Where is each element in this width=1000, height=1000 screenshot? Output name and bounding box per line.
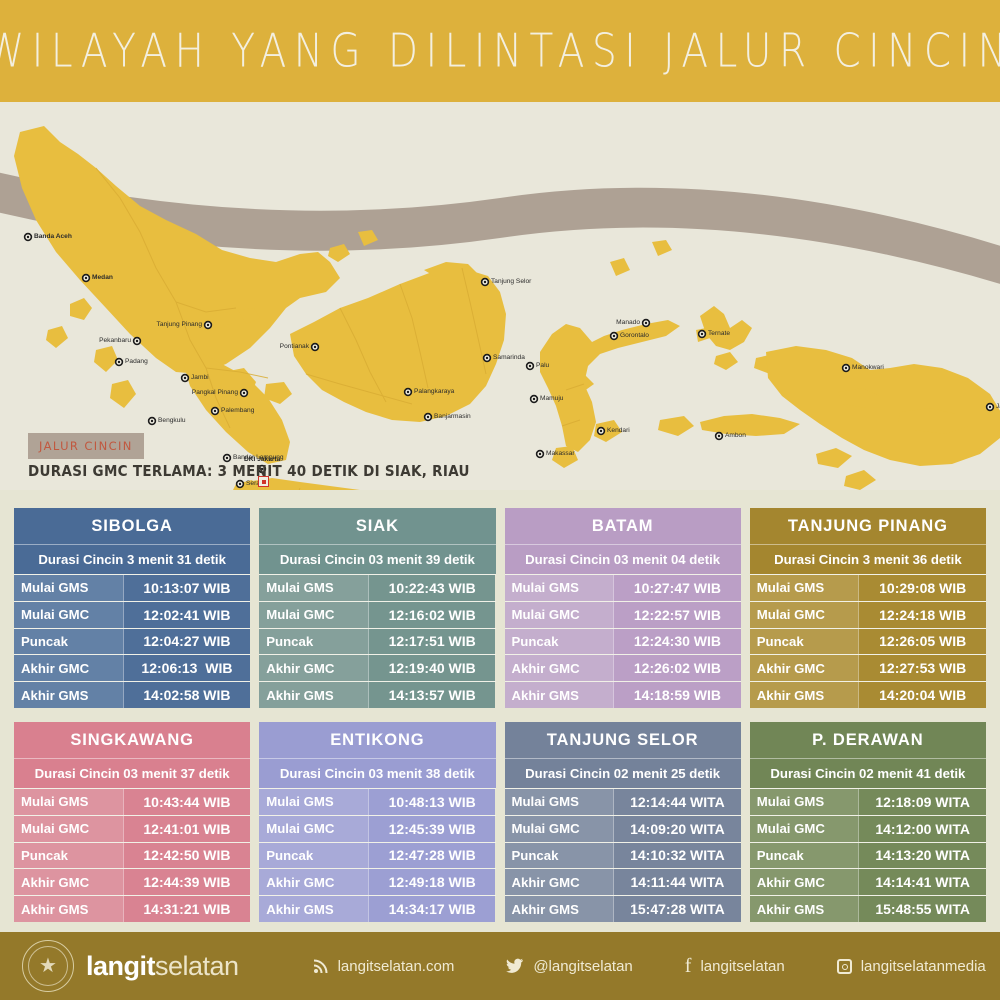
row-value: 12:06:13 WIB bbox=[123, 655, 251, 681]
card-duration: Durasi Cincin 03 menit 04 detik bbox=[505, 544, 741, 574]
row-label: Mulai GMS bbox=[505, 789, 614, 815]
city-label: Bengkulu bbox=[158, 418, 186, 425]
table-row: Mulai GMC12:45:39 WIB bbox=[259, 815, 495, 842]
row-label: Akhir GMC bbox=[750, 655, 859, 681]
infographic-page: WILAYAH YANG DILINTASI JALUR CINCIN bbox=[0, 0, 1000, 1000]
row-value: 10:22:43 WIB bbox=[368, 575, 496, 601]
social-links: langitselatan.com@langitselatanflangitse… bbox=[313, 955, 986, 978]
city-timing-card: TANJUNG PINANGDurasi Cincin 3 menit 36 d… bbox=[750, 508, 986, 708]
city-label: Jayapura bbox=[996, 404, 1000, 411]
city-label: Tanjung Selor bbox=[491, 279, 531, 286]
table-row: Puncak12:47:28 WIB bbox=[259, 842, 495, 869]
row-label: Mulai GMC bbox=[750, 816, 859, 842]
city-label: Ambon bbox=[725, 433, 746, 440]
city-label: Kendari bbox=[607, 428, 630, 435]
city-label: Palangkaraya bbox=[414, 389, 454, 396]
city-timing-card: SIAKDurasi Cincin 03 menit 39 detikMulai… bbox=[259, 508, 495, 708]
social-link-rss[interactable]: langitselatan.com bbox=[313, 958, 455, 975]
table-row: Mulai GMC12:16:02 WIB bbox=[259, 601, 495, 628]
city-label: Ternate bbox=[708, 331, 730, 338]
row-value: 12:26:05 WIB bbox=[858, 629, 986, 655]
social-link-facebook[interactable]: flangitselatan bbox=[685, 955, 785, 978]
table-row: Mulai GMS10:29:08 WIB bbox=[750, 574, 986, 601]
page-footer: ★ langitselatan langitselatan.com@langit… bbox=[0, 932, 1000, 1000]
city-label: Pangkal Pinang bbox=[192, 390, 238, 397]
card-title: SIBOLGA bbox=[14, 508, 250, 544]
card-title: SIAK bbox=[259, 508, 495, 544]
table-row: Akhir GMC12:26:02 WIB bbox=[505, 654, 741, 681]
row-label: Mulai GMC bbox=[505, 602, 614, 628]
city-timing-card: SIBOLGADurasi Cincin 3 menit 31 detikMul… bbox=[14, 508, 250, 708]
card-duration: Durasi Cincin 02 menit 25 detik bbox=[505, 758, 741, 788]
row-value: 12:22:57 WIB bbox=[613, 602, 741, 628]
card-title: P. DERAWAN bbox=[750, 722, 986, 758]
row-value: 14:09:20 WITA bbox=[613, 816, 741, 842]
table-row: Mulai GMS10:48:13 WIB bbox=[259, 788, 495, 815]
row-value: 14:20:04 WIB bbox=[858, 682, 986, 708]
row-value: 10:48:13 WIB bbox=[368, 789, 496, 815]
row-label: Mulai GMS bbox=[505, 575, 614, 601]
row-label: Akhir GMS bbox=[505, 896, 614, 922]
row-value: 12:16:02 WIB bbox=[368, 602, 496, 628]
page-title: WILAYAH YANG DILINTASI JALUR CINCIN bbox=[0, 24, 1000, 77]
card-title: ENTIKONG bbox=[259, 722, 495, 758]
table-row: Mulai GMC14:12:00 WITA bbox=[750, 815, 986, 842]
row-value: 12:17:51 WIB bbox=[368, 629, 496, 655]
city-label: Mamuju bbox=[540, 396, 563, 403]
row-value: 14:31:21 WIB bbox=[123, 896, 251, 922]
city-label: Tanjung Pinang bbox=[157, 322, 202, 329]
row-label: Mulai GMS bbox=[750, 789, 859, 815]
row-label: Akhir GMS bbox=[14, 896, 123, 922]
row-label: Puncak bbox=[14, 843, 123, 869]
row-value: 12:47:28 WIB bbox=[368, 843, 496, 869]
social-link-twitter[interactable]: @langitselatan bbox=[506, 958, 632, 975]
city-label: Samarinda bbox=[493, 355, 525, 362]
table-row: Puncak12:17:51 WIB bbox=[259, 628, 495, 655]
city-timing-card: ENTIKONGDurasi Cincin 03 menit 38 detikM… bbox=[259, 722, 495, 922]
row-value: 12:42:50 WIB bbox=[123, 843, 251, 869]
row-value: 12:45:39 WIB bbox=[368, 816, 496, 842]
row-label: Akhir GMS bbox=[14, 682, 123, 708]
city-label: Pekanbaru bbox=[99, 338, 131, 345]
row-label: Puncak bbox=[259, 629, 368, 655]
row-label: Puncak bbox=[14, 629, 123, 655]
city-label: Banda Aceh bbox=[34, 234, 72, 241]
table-row: Mulai GMS10:43:44 WIB bbox=[14, 788, 250, 815]
card-title: SINGKAWANG bbox=[14, 722, 250, 758]
row-label: Puncak bbox=[750, 843, 859, 869]
instagram-icon bbox=[837, 959, 852, 974]
row-label: Mulai GMS bbox=[750, 575, 859, 601]
row-label: Mulai GMS bbox=[259, 789, 368, 815]
card-title: TANJUNG PINANG bbox=[750, 508, 986, 544]
row-value: 14:12:00 WITA bbox=[858, 816, 986, 842]
row-value: 14:34:17 WIB bbox=[368, 896, 496, 922]
row-label: Mulai GMC bbox=[14, 602, 123, 628]
city-timing-grid: SIBOLGADurasi Cincin 3 menit 31 detikMul… bbox=[14, 508, 986, 922]
row-value: 12:49:18 WIB bbox=[368, 869, 496, 895]
row-label: Akhir GMS bbox=[750, 682, 859, 708]
brand-word-light: selatan bbox=[155, 951, 239, 981]
row-value: 15:48:55 WITA bbox=[858, 896, 986, 922]
table-row: Mulai GMS12:14:44 WITA bbox=[505, 788, 741, 815]
city-label: Manokwari bbox=[852, 365, 884, 372]
row-label: Puncak bbox=[505, 843, 614, 869]
card-duration: Durasi Cincin 03 menit 37 detik bbox=[14, 758, 250, 788]
card-title: TANJUNG SELOR bbox=[505, 722, 741, 758]
table-row: Mulai GMS10:22:43 WIB bbox=[259, 574, 495, 601]
table-row: Mulai GMC14:09:20 WITA bbox=[505, 815, 741, 842]
table-row: Akhir GMS14:13:57 WIB bbox=[259, 681, 495, 708]
row-label: Akhir GMS bbox=[259, 896, 368, 922]
city-label: Manado bbox=[616, 320, 640, 327]
brand-lockup[interactable]: ★ langitselatan bbox=[22, 940, 239, 992]
table-row: Akhir GMC12:06:13 WIB bbox=[14, 654, 250, 681]
brand-word-bold: langit bbox=[86, 951, 155, 981]
table-row: Akhir GMC12:19:40 WIB bbox=[259, 654, 495, 681]
table-row: Puncak12:04:27 WIB bbox=[14, 628, 250, 655]
row-value: 12:19:40 WIB bbox=[368, 655, 496, 681]
row-value: 12:24:30 WIB bbox=[613, 629, 741, 655]
table-row: Akhir GMS14:31:21 WIB bbox=[14, 895, 250, 922]
table-row: Puncak12:42:50 WIB bbox=[14, 842, 250, 869]
social-label: langitselatan.com bbox=[338, 958, 455, 975]
table-row: Mulai GMC12:24:18 WIB bbox=[750, 601, 986, 628]
row-label: Puncak bbox=[259, 843, 368, 869]
row-label: Mulai GMC bbox=[750, 602, 859, 628]
rss-icon bbox=[313, 958, 329, 974]
legend-chip: JALUR CINCIN bbox=[28, 433, 144, 459]
seal-figure-icon: ★ bbox=[39, 956, 57, 976]
row-label: Akhir GMC bbox=[505, 869, 614, 895]
row-value: 12:44:39 WIB bbox=[123, 869, 251, 895]
city-timing-card: TANJUNG SELORDurasi Cincin 02 menit 25 d… bbox=[505, 722, 741, 922]
row-label: Mulai GMS bbox=[14, 789, 123, 815]
row-label: Mulai GMS bbox=[259, 575, 368, 601]
langitselatan-seal-icon: ★ bbox=[22, 940, 74, 992]
table-row: Akhir GMS15:48:55 WITA bbox=[750, 895, 986, 922]
row-label: Akhir GMC bbox=[14, 869, 123, 895]
row-label: Akhir GMS bbox=[750, 896, 859, 922]
row-value: 12:14:44 WITA bbox=[613, 789, 741, 815]
row-label: Akhir GMC bbox=[14, 655, 123, 681]
city-timing-card: P. DERAWANDurasi Cincin 02 menit 41 deti… bbox=[750, 722, 986, 922]
brand-wordmark: langitselatan bbox=[86, 951, 239, 982]
row-label: Mulai GMC bbox=[505, 816, 614, 842]
row-value: 12:26:02 WIB bbox=[613, 655, 741, 681]
page-header: WILAYAH YANG DILINTASI JALUR CINCIN bbox=[0, 0, 1000, 102]
city-label: Padang bbox=[125, 359, 148, 366]
table-row: Akhir GMS14:20:04 WIB bbox=[750, 681, 986, 708]
table-row: Mulai GMC12:22:57 WIB bbox=[505, 601, 741, 628]
row-value: 14:18:59 WIB bbox=[613, 682, 741, 708]
table-row: Akhir GMC12:44:39 WIB bbox=[14, 868, 250, 895]
table-row: Akhir GMC14:14:41 WITA bbox=[750, 868, 986, 895]
table-row: Puncak12:26:05 WIB bbox=[750, 628, 986, 655]
table-row: Akhir GMC12:49:18 WIB bbox=[259, 868, 495, 895]
row-label: Akhir GMS bbox=[259, 682, 368, 708]
map-caption: DURASI GMC TERLAMA: 3 MENIT 40 DETIK DI … bbox=[28, 463, 470, 481]
row-label: Akhir GMC bbox=[505, 655, 614, 681]
city-label: Makassar bbox=[546, 451, 575, 458]
table-row: Puncak14:10:32 WITA bbox=[505, 842, 741, 869]
card-duration: Durasi Cincin 3 menit 31 detik bbox=[14, 544, 250, 574]
card-title: BATAM bbox=[505, 508, 741, 544]
row-value: 10:27:47 WIB bbox=[613, 575, 741, 601]
city-label-layer: Banda AcehMedanPekanbaruTanjung PinangPa… bbox=[0, 102, 1000, 490]
social-label: langitselatanmedia bbox=[861, 958, 986, 975]
row-label: Akhir GMC bbox=[259, 869, 368, 895]
row-value: 14:10:32 WITA bbox=[613, 843, 741, 869]
row-label: Akhir GMS bbox=[505, 682, 614, 708]
row-value: 14:11:44 WITA bbox=[613, 869, 741, 895]
table-row: Akhir GMS14:02:58 WIB bbox=[14, 681, 250, 708]
table-row: Puncak14:13:20 WITA bbox=[750, 842, 986, 869]
social-label: langitselatan bbox=[700, 958, 784, 975]
row-label: Puncak bbox=[750, 629, 859, 655]
row-label: Puncak bbox=[505, 629, 614, 655]
card-duration: Durasi Cincin 03 menit 39 detik bbox=[259, 544, 495, 574]
city-timing-card: BATAMDurasi Cincin 03 menit 04 detikMula… bbox=[505, 508, 741, 708]
city-label: Palembang bbox=[221, 408, 254, 415]
table-row: Mulai GMS10:27:47 WIB bbox=[505, 574, 741, 601]
card-duration: Durasi Cincin 02 menit 41 detik bbox=[750, 758, 986, 788]
social-link-instagram[interactable]: langitselatanmedia bbox=[837, 958, 986, 975]
row-label: Mulai GMC bbox=[259, 602, 368, 628]
row-value: 10:43:44 WIB bbox=[123, 789, 251, 815]
row-value: 10:13:07 WIB bbox=[123, 575, 251, 601]
row-value: 14:02:58 WIB bbox=[123, 682, 251, 708]
row-label: Mulai GMC bbox=[259, 816, 368, 842]
row-value: 10:29:08 WIB bbox=[858, 575, 986, 601]
table-row: Akhir GMS14:18:59 WIB bbox=[505, 681, 741, 708]
table-row: Akhir GMC14:11:44 WITA bbox=[505, 868, 741, 895]
row-value: 12:02:41 WIB bbox=[123, 602, 251, 628]
map-panel: Banda AcehMedanPekanbaruTanjung PinangPa… bbox=[0, 102, 1000, 490]
table-row: Puncak12:24:30 WIB bbox=[505, 628, 741, 655]
row-value: 12:18:09 WITA bbox=[858, 789, 986, 815]
table-row: Akhir GMC12:27:53 WIB bbox=[750, 654, 986, 681]
row-value: 14:13:20 WITA bbox=[858, 843, 986, 869]
card-duration: Durasi Cincin 3 menit 36 detik bbox=[750, 544, 986, 574]
row-value: 15:47:28 WITA bbox=[613, 896, 741, 922]
row-label: Mulai GMS bbox=[14, 575, 123, 601]
row-value: 14:13:57 WIB bbox=[368, 682, 496, 708]
city-label: Pontianak bbox=[280, 344, 309, 351]
city-label: Palu bbox=[536, 363, 549, 370]
row-label: Mulai GMC bbox=[14, 816, 123, 842]
row-value: 12:24:18 WIB bbox=[858, 602, 986, 628]
row-value: 12:27:53 WIB bbox=[858, 655, 986, 681]
table-row: Akhir GMS14:34:17 WIB bbox=[259, 895, 495, 922]
table-row: Mulai GMS12:18:09 WITA bbox=[750, 788, 986, 815]
row-value: 12:04:27 WIB bbox=[123, 629, 251, 655]
row-value: 12:41:01 WIB bbox=[123, 816, 251, 842]
row-label: Akhir GMC bbox=[750, 869, 859, 895]
row-label: Akhir GMC bbox=[259, 655, 368, 681]
legend-label: JALUR CINCIN bbox=[39, 439, 133, 453]
city-label: Gorontalo bbox=[620, 333, 649, 340]
facebook-icon: f bbox=[685, 955, 692, 978]
table-row: Akhir GMS15:47:28 WITA bbox=[505, 895, 741, 922]
city-label: Banjarmasin bbox=[434, 414, 471, 421]
table-row: Mulai GMC12:02:41 WIB bbox=[14, 601, 250, 628]
table-row: Mulai GMC12:41:01 WIB bbox=[14, 815, 250, 842]
city-label: Medan bbox=[92, 275, 113, 282]
social-label: @langitselatan bbox=[533, 958, 632, 975]
twitter-icon bbox=[506, 958, 524, 974]
city-label: Jambi bbox=[191, 375, 209, 382]
card-duration: Durasi Cincin 03 menit 38 detik bbox=[259, 758, 495, 788]
table-row: Mulai GMS10:13:07 WIB bbox=[14, 574, 250, 601]
row-value: 14:14:41 WITA bbox=[858, 869, 986, 895]
city-timing-card: SINGKAWANGDurasi Cincin 03 menit 37 deti… bbox=[14, 722, 250, 922]
